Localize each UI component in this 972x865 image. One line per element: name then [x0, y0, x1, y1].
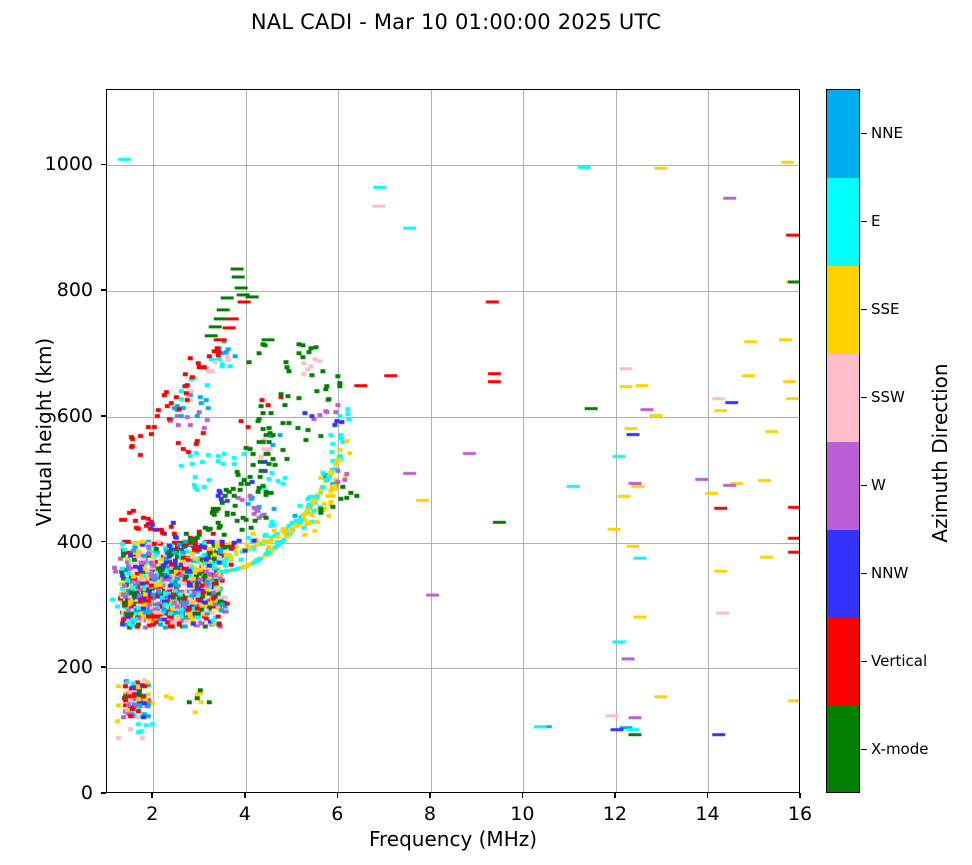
x-tick-label: 8: [424, 803, 436, 825]
y-axis-label: Virtual height (km): [32, 282, 56, 582]
x-tick-mark: [799, 793, 801, 798]
y-tick-mark: [101, 164, 106, 166]
y-tick-mark: [101, 666, 106, 668]
page-title: NAL CADI - Mar 10 01:00:00 2025 UTC: [0, 10, 912, 34]
colorbar-tick-mark: [861, 133, 867, 134]
colorbar-tick-mark: [861, 309, 867, 310]
colorbar-tick-mark: [861, 661, 867, 662]
x-tick-label: 14: [695, 803, 719, 825]
plot-area: [106, 89, 800, 793]
y-tick-label: 0: [1, 782, 93, 804]
colorbar-label-nnw: NNW: [871, 564, 908, 582]
colorbar-label-ssw: SSW: [871, 388, 905, 406]
x-tick-label: 12: [603, 803, 627, 825]
x-tick-mark: [707, 793, 709, 798]
x-tick-label: 16: [788, 803, 812, 825]
colorbar[interactable]: [826, 89, 860, 793]
colorbar-segment-x-mode[interactable]: [827, 706, 859, 793]
x-axis-label: Frequency (MHz): [106, 827, 800, 851]
colorbar-label-x-mode: X-mode: [871, 740, 928, 758]
x-tick-mark: [151, 793, 153, 798]
x-tick-label: 4: [239, 803, 251, 825]
y-tick-label: 200: [1, 656, 93, 678]
colorbar-tick-mark: [861, 749, 867, 750]
colorbar-segment-w[interactable]: [827, 442, 859, 531]
y-tick-mark: [101, 415, 106, 417]
colorbar-segment-nnw[interactable]: [827, 530, 859, 619]
x-tick-label: 10: [510, 803, 534, 825]
x-tick-mark: [522, 793, 524, 798]
y-tick-label: 1000: [1, 153, 93, 175]
y-tick-mark: [101, 541, 106, 543]
colorbar-segment-ssw[interactable]: [827, 354, 859, 443]
colorbar-label-nne: NNE: [871, 124, 903, 142]
colorbar-segment-vertical[interactable]: [827, 618, 859, 707]
colorbar-segment-nne[interactable]: [827, 90, 859, 179]
colorbar-label-sse: SSE: [871, 300, 900, 318]
ionogram-figure: NAL CADI - Mar 10 01:00:00 2025 UTC 2468…: [0, 0, 972, 865]
x-tick-mark: [337, 793, 339, 798]
x-tick-mark: [429, 793, 431, 798]
colorbar-label-e: E: [871, 212, 880, 230]
x-tick-label: 2: [146, 803, 158, 825]
colorbar-segment-e[interactable]: [827, 178, 859, 267]
colorbar-label-vertical: Vertical: [871, 652, 927, 670]
y-tick-mark: [101, 289, 106, 291]
ionogram-data-canvas: [107, 90, 799, 792]
colorbar-tick-mark: [861, 573, 867, 574]
y-tick-mark: [101, 792, 106, 794]
colorbar-label-w: W: [871, 476, 886, 494]
colorbar-tick-mark: [861, 485, 867, 486]
x-tick-label: 6: [331, 803, 343, 825]
x-tick-mark: [614, 793, 616, 798]
x-tick-mark: [244, 793, 246, 798]
colorbar-tick-mark: [861, 397, 867, 398]
colorbar-label: Azimuth Direction: [928, 303, 952, 603]
colorbar-tick-mark: [861, 221, 867, 222]
colorbar-segment-sse[interactable]: [827, 266, 859, 355]
